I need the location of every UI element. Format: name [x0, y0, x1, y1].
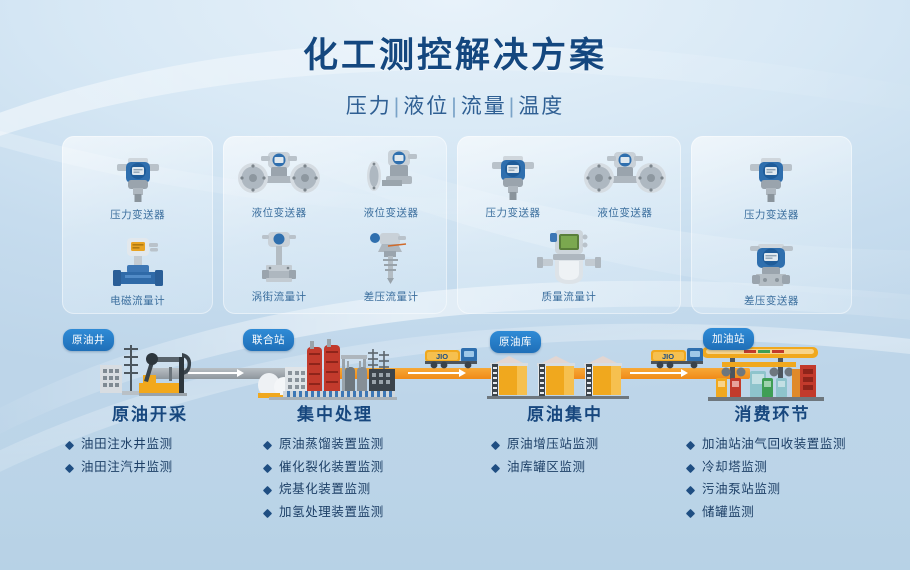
- stage-title-processing: 集中处理: [255, 400, 415, 425]
- list-item-label: 烷基化装置监测: [279, 482, 371, 498]
- level-transmitter-single-icon: [356, 146, 426, 202]
- pressure-transmitter-icon: [107, 148, 169, 204]
- subtitle-separator-1: |: [392, 95, 403, 118]
- product-label: 压力变送器: [744, 207, 799, 222]
- list-item[interactable]: 催化裂化装置监测: [264, 460, 384, 476]
- flow-arrow-shaft: [630, 372, 682, 374]
- header: 化工测控解决方案 压力|液位|流量|温度: [0, 36, 910, 120]
- list-item-label: 加油站油气回收装置监测: [702, 437, 846, 453]
- list-item-label: 油田注水井监测: [81, 437, 173, 453]
- subtitle-separator-2: |: [449, 95, 460, 118]
- product-item[interactable]: 液位变送器: [335, 146, 447, 228]
- list-item[interactable]: 油田注水井监测: [66, 437, 173, 453]
- list-item-label: 油库罐区监测: [507, 460, 586, 476]
- product-card-1[interactable]: 压力变送器: [62, 136, 213, 314]
- product-card-4[interactable]: 压力变送器: [691, 136, 852, 314]
- pressure-transmitter-icon: [740, 148, 802, 204]
- stage-badge-gas-station[interactable]: 加油站: [703, 328, 754, 350]
- subtitle-part-pressure: 压力: [346, 95, 392, 118]
- page-title: 化工测控解决方案: [0, 36, 910, 76]
- subtitle: 压力|液位|流量|温度: [0, 90, 910, 120]
- list-item-label: 冷却塔监测: [702, 460, 768, 476]
- diamond-bullet-icon: [263, 486, 272, 495]
- electromagnetic-flowmeter-icon: [105, 234, 171, 290]
- list-item-label: 油田注汽井监测: [81, 460, 173, 476]
- diamond-bullet-icon: [65, 463, 74, 472]
- list-item-label: 原油蒸馏装置监测: [279, 437, 384, 453]
- diamond-bullet-icon: [491, 441, 500, 450]
- tanker-truck: JIO: [424, 344, 482, 370]
- list-item[interactable]: 污油泵站监测: [687, 482, 846, 498]
- level-transmitter-flange-icon: [235, 146, 323, 202]
- diamond-bullet-icon: [686, 463, 695, 472]
- list-item[interactable]: 油库罐区监测: [492, 460, 599, 476]
- list-item-label: 加氢处理装置监测: [279, 505, 384, 521]
- product-item[interactable]: 压力变送器: [457, 146, 569, 228]
- list-item[interactable]: 加氢处理装置监测: [264, 505, 384, 521]
- level-transmitter-flange-icon: [581, 146, 669, 202]
- product-card-row: 压力变送器: [62, 136, 852, 314]
- diamond-bullet-icon: [263, 509, 272, 518]
- flow-arrow-head: [237, 369, 244, 377]
- list-item[interactable]: 加油站油气回收装置监测: [687, 437, 846, 453]
- mass-flowmeter-icon: [533, 230, 605, 286]
- differential-pressure-transmitter-icon: [738, 234, 804, 290]
- list-item-label: 原油增压站监测: [507, 437, 599, 453]
- bullet-list-consumption: 加油站油气回收装置监测 冷却塔监测 污油泵站监测 储罐监测: [687, 437, 846, 528]
- pressure-transmitter-icon: [482, 146, 544, 202]
- product-card-2[interactable]: 液位变送器: [223, 136, 447, 314]
- tanker-truck: JIO: [650, 344, 708, 370]
- product-item[interactable]: 压力变送器: [691, 148, 852, 230]
- scene-gas-station: [700, 343, 840, 405]
- product-label: 压力变送器: [485, 205, 540, 220]
- diamond-bullet-icon: [263, 441, 272, 450]
- diamond-bullet-icon: [686, 509, 695, 518]
- diamond-bullet-icon: [686, 441, 695, 450]
- flow-arrow-head: [459, 369, 466, 377]
- product-item[interactable]: 电磁流量计: [62, 234, 213, 316]
- list-item[interactable]: 原油蒸馏装置监测: [264, 437, 384, 453]
- bullet-list-extraction: 油田注水井监测 油田注汽井监测: [66, 437, 173, 482]
- product-item[interactable]: 差压变送器: [691, 234, 852, 316]
- subtitle-part-temperature: 温度: [518, 95, 564, 118]
- list-item-label: 催化裂化装置监测: [279, 460, 384, 476]
- product-item[interactable]: 质量流量计: [457, 230, 681, 312]
- diamond-bullet-icon: [263, 463, 272, 472]
- diamond-bullet-icon: [491, 463, 500, 472]
- list-item[interactable]: 储罐监测: [687, 505, 846, 521]
- product-label: 差压流量计: [364, 289, 419, 304]
- stage-title-consumption: 消费环节: [700, 400, 845, 425]
- svg-text:JIO: JIO: [662, 352, 674, 361]
- infographic-root: 化工测控解决方案 压力|液位|流量|温度: [0, 0, 910, 570]
- list-item[interactable]: 原油增压站监测: [492, 437, 599, 453]
- product-item[interactable]: 液位变送器: [569, 146, 681, 228]
- scene-storage-tanks: [487, 353, 632, 405]
- subtitle-separator-3: |: [507, 95, 518, 118]
- list-item[interactable]: 冷却塔监测: [687, 460, 846, 476]
- stage-badge-crude-depot[interactable]: 原油库: [490, 331, 541, 353]
- product-card-3[interactable]: 压力变送器: [457, 136, 681, 314]
- product-label: 液位变送器: [252, 205, 307, 220]
- product-label: 电磁流量计: [110, 293, 165, 308]
- product-item[interactable]: 液位变送器: [223, 146, 335, 228]
- product-label: 差压变送器: [744, 293, 799, 308]
- product-label: 压力变送器: [110, 207, 165, 222]
- product-label: 液位变送器: [364, 205, 419, 220]
- product-item[interactable]: 涡街流量计: [223, 230, 335, 312]
- stage-title-extraction: 原油开采: [80, 400, 220, 425]
- flow-arrow-head: [681, 369, 688, 377]
- list-item-label: 储罐监测: [702, 505, 754, 521]
- product-item[interactable]: 压力变送器: [62, 148, 213, 230]
- product-label: 涡街流量计: [252, 289, 307, 304]
- flow-arrow-shaft: [408, 372, 460, 374]
- product-label: 液位变送器: [597, 205, 652, 220]
- bullet-list-collection: 原油增压站监测 油库罐区监测: [492, 437, 599, 482]
- diamond-bullet-icon: [686, 486, 695, 495]
- bullet-list-processing: 原油蒸馏装置监测 催化裂化装置监测 烷基化装置监测 加氢处理装置监测: [264, 437, 384, 528]
- subtitle-part-flow: 流量: [461, 95, 507, 118]
- stage-badge-oil-well[interactable]: 原油井: [63, 329, 114, 351]
- stage-title-collection: 原油集中: [490, 400, 640, 425]
- product-label: 质量流量计: [541, 289, 596, 304]
- differential-pressure-flowmeter-icon: [362, 230, 420, 286]
- subtitle-part-level: 液位: [403, 95, 449, 118]
- svg-text:JIO: JIO: [436, 352, 448, 361]
- stage-badge-gathering-station[interactable]: 联合站: [243, 329, 294, 351]
- list-item[interactable]: 油田注汽井监测: [66, 460, 173, 476]
- list-item[interactable]: 烷基化装置监测: [264, 482, 384, 498]
- list-item-label: 污油泵站监测: [702, 482, 781, 498]
- vortex-flowmeter-icon: [250, 230, 308, 286]
- product-item[interactable]: 差压流量计: [335, 230, 447, 312]
- diamond-bullet-icon: [65, 441, 74, 450]
